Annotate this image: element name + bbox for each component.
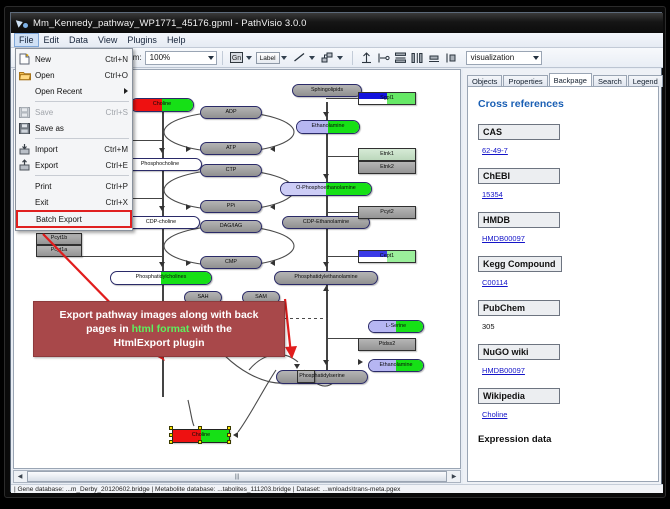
blank-icon <box>18 85 31 98</box>
pathvisio-icon <box>16 17 28 29</box>
visualization-combo[interactable]: visualization <box>466 51 542 65</box>
backpage-group-wikipedia: Wikipedia Choline <box>478 388 648 422</box>
file-menu-label-batch-export: Batch Export <box>36 215 127 224</box>
gene-product-icon[interactable]: Gn <box>229 50 244 65</box>
scroll-left-arrow-icon[interactable]: ◀ <box>14 471 26 482</box>
backpage-group-hmdb: HMDB HMDB00097 <box>478 212 648 246</box>
menu-bar: File Edit Data View Plugins Help <box>11 33 663 48</box>
menu-plugins[interactable]: Plugins <box>122 33 162 47</box>
chevron-right-icon <box>124 88 128 94</box>
annotation-callout: Export pathway images along with back pa… <box>33 301 285 357</box>
backpage-link-chebi[interactable]: 15354 <box>482 190 503 199</box>
backpage-link-kegg[interactable]: C00114 <box>482 278 508 287</box>
screenshot-root: Mm_Kennedy_pathway_WP1771_45176.gpml - P… <box>0 0 670 509</box>
align-left-icon[interactable] <box>376 50 391 65</box>
file-menu-item-exit[interactable]: Exit Ctrl+X <box>16 194 132 210</box>
scrollbar-thumb[interactable]: ||| <box>27 471 447 482</box>
file-menu-item-export[interactable]: Export Ctrl+E <box>16 157 132 173</box>
backpage-link-wikipedia[interactable]: Choline <box>482 410 507 419</box>
backpage-group-chebi: ChEBI 15354 <box>478 168 648 202</box>
new-document-icon <box>18 53 31 66</box>
file-menu-label-exit: Exit <box>35 198 106 207</box>
backpage-value-pubchem: 305 <box>482 322 495 331</box>
label-tool-button[interactable]: Label <box>256 52 280 64</box>
canvas-horizontal-scrollbar[interactable]: ◀ ||| ▶ <box>13 470 461 483</box>
backpage-content: Cross references CAS 62-49-7 ChEBI 15354… <box>467 86 659 482</box>
title-bar: Mm_Kennedy_pathway_WP1771_45176.gpml - P… <box>11 13 663 33</box>
file-menu-label-open-recent: Open Recent <box>35 87 124 96</box>
file-menu-item-batch-export[interactable]: Batch Export <box>17 211 131 227</box>
chevron-down-icon <box>208 56 214 60</box>
line-icon[interactable] <box>292 50 307 65</box>
label-dropdown-chevron-icon[interactable] <box>281 56 287 60</box>
file-menu-item-open[interactable]: Open Ctrl+O <box>16 67 132 83</box>
status-bar-text: | Gene database: ...m_Derby_20120602.bri… <box>14 486 400 493</box>
file-menu-label-new: New <box>35 55 105 64</box>
callout-line2-b: with the <box>189 323 232 335</box>
file-menu-item-print[interactable]: Print Ctrl+P <box>16 178 132 194</box>
file-menu-item-save: Save Ctrl+S <box>16 104 132 120</box>
file-menu-label-save-as: Save as <box>35 124 128 133</box>
status-bar: | Gene database: ...m_Derby_20120602.bri… <box>11 484 663 493</box>
right-panel-tabs: Objects Properties Backpage Search Legen… <box>467 73 659 87</box>
backpage-expression-heading: Expression data <box>478 434 648 445</box>
backpage-link-nugo[interactable]: HMDB00097 <box>482 366 525 375</box>
shape-icon[interactable] <box>320 50 335 65</box>
file-menu-shortcut-print: Ctrl+P <box>106 182 128 191</box>
file-menu-item-new[interactable]: New Ctrl+N <box>16 51 132 67</box>
backpage-head-chebi: ChEBI <box>478 168 560 184</box>
file-menu-item-open-recent[interactable]: Open Recent <box>16 83 132 99</box>
menu-data[interactable]: Data <box>64 33 93 47</box>
gene-dropdown-chevron-icon[interactable] <box>246 56 252 60</box>
callout-highlight: html format <box>132 323 190 335</box>
blank-icon <box>19 213 32 226</box>
file-menu-item-save-as[interactable]: Save as <box>16 120 132 136</box>
menu-file[interactable]: File <box>14 33 39 47</box>
backpage-group-nugo: NuGO wiki HMDB00097 <box>478 344 648 378</box>
backpage-group-kegg: Kegg Compound C00114 <box>478 256 648 290</box>
toolbar-separator <box>222 51 223 65</box>
save-as-icon <box>18 122 31 135</box>
window-title: Mm_Kennedy_pathway_WP1771_45176.gpml - P… <box>33 18 307 29</box>
open-folder-icon <box>18 69 31 82</box>
right-panel: Objects Properties Backpage Search Legen… <box>463 69 661 487</box>
menu-edit[interactable]: Edit <box>39 33 65 47</box>
backpage-title: Cross references <box>478 98 648 110</box>
backpage-head-hmdb: HMDB <box>478 212 560 228</box>
backpage-link-hmdb[interactable]: HMDB00097 <box>482 234 525 243</box>
file-menu-shortcut-open: Ctrl+O <box>105 71 128 80</box>
file-menu-label-import: Import <box>35 145 104 154</box>
file-menu-separator-3 <box>35 175 129 176</box>
backpage-head-kegg: Kegg Compound <box>478 256 562 272</box>
file-menu-label-open: Open <box>35 71 105 80</box>
shape-dropdown-chevron-icon[interactable] <box>337 56 343 60</box>
file-menu-separator-2 <box>35 138 129 139</box>
callout-line2-a: pages in <box>86 323 132 335</box>
zoom-combo[interactable]: 100% <box>145 51 217 65</box>
backpage-head-pubchem: PubChem <box>478 300 560 316</box>
file-menu-shortcut-new: Ctrl+N <box>105 55 128 64</box>
file-menu-item-import[interactable]: Import Ctrl+M <box>16 141 132 157</box>
tab-backpage[interactable]: Backpage <box>549 73 592 87</box>
toolbar-separator-2 <box>352 51 353 65</box>
menu-view[interactable]: View <box>93 33 122 47</box>
backpage-head-nugo: NuGO wiki <box>478 344 560 360</box>
blank-icon <box>18 196 31 209</box>
file-menu-shortcut-save: Ctrl+S <box>106 108 128 117</box>
file-menu-shortcut-export: Ctrl+E <box>106 161 128 170</box>
callout-line3: HtmlExport plugin <box>114 337 205 349</box>
file-menu-label-print: Print <box>35 182 106 191</box>
blank-icon <box>18 180 31 193</box>
visualization-value: visualization <box>471 53 515 62</box>
file-menu-separator-1 <box>35 101 129 102</box>
application-window: Mm_Kennedy_pathway_WP1771_45176.gpml - P… <box>10 12 662 492</box>
file-menu-label-export: Export <box>35 161 106 170</box>
backpage-group-pubchem: PubChem 305 <box>478 300 648 334</box>
save-disk-icon <box>18 106 31 119</box>
chevron-down-icon <box>533 56 539 60</box>
distribute-vertical-icon[interactable] <box>393 50 408 65</box>
file-menu-shortcut-exit: Ctrl+X <box>106 198 128 207</box>
callout-line1: Export pathway images along with back <box>60 309 259 321</box>
import-icon <box>18 143 31 156</box>
file-menu-label-save: Save <box>35 108 106 117</box>
file-menu-shortcut-import: Ctrl+M <box>104 145 128 154</box>
backpage-head-cas: CAS <box>478 124 560 140</box>
line-dropdown-chevron-icon[interactable] <box>309 56 315 60</box>
same-height-icon[interactable] <box>444 50 459 65</box>
zoom-value: 100% <box>150 53 170 62</box>
file-menu-dropdown[interactable]: New Ctrl+N Open Ctrl+O Open Recent <box>15 48 133 231</box>
svg-text:Gn: Gn <box>232 55 241 62</box>
distribute-horizontal-icon[interactable] <box>410 50 425 65</box>
scroll-right-arrow-icon[interactable]: ▶ <box>448 471 460 482</box>
backpage-group-cas: CAS 62-49-7 <box>478 124 648 158</box>
same-width-icon[interactable] <box>427 50 442 65</box>
export-icon <box>18 159 31 172</box>
backpage-head-wikipedia: Wikipedia <box>478 388 560 404</box>
menu-help[interactable]: Help <box>162 33 191 47</box>
backpage-link-cas[interactable]: 62-49-7 <box>482 146 508 155</box>
align-top-icon[interactable] <box>359 50 374 65</box>
